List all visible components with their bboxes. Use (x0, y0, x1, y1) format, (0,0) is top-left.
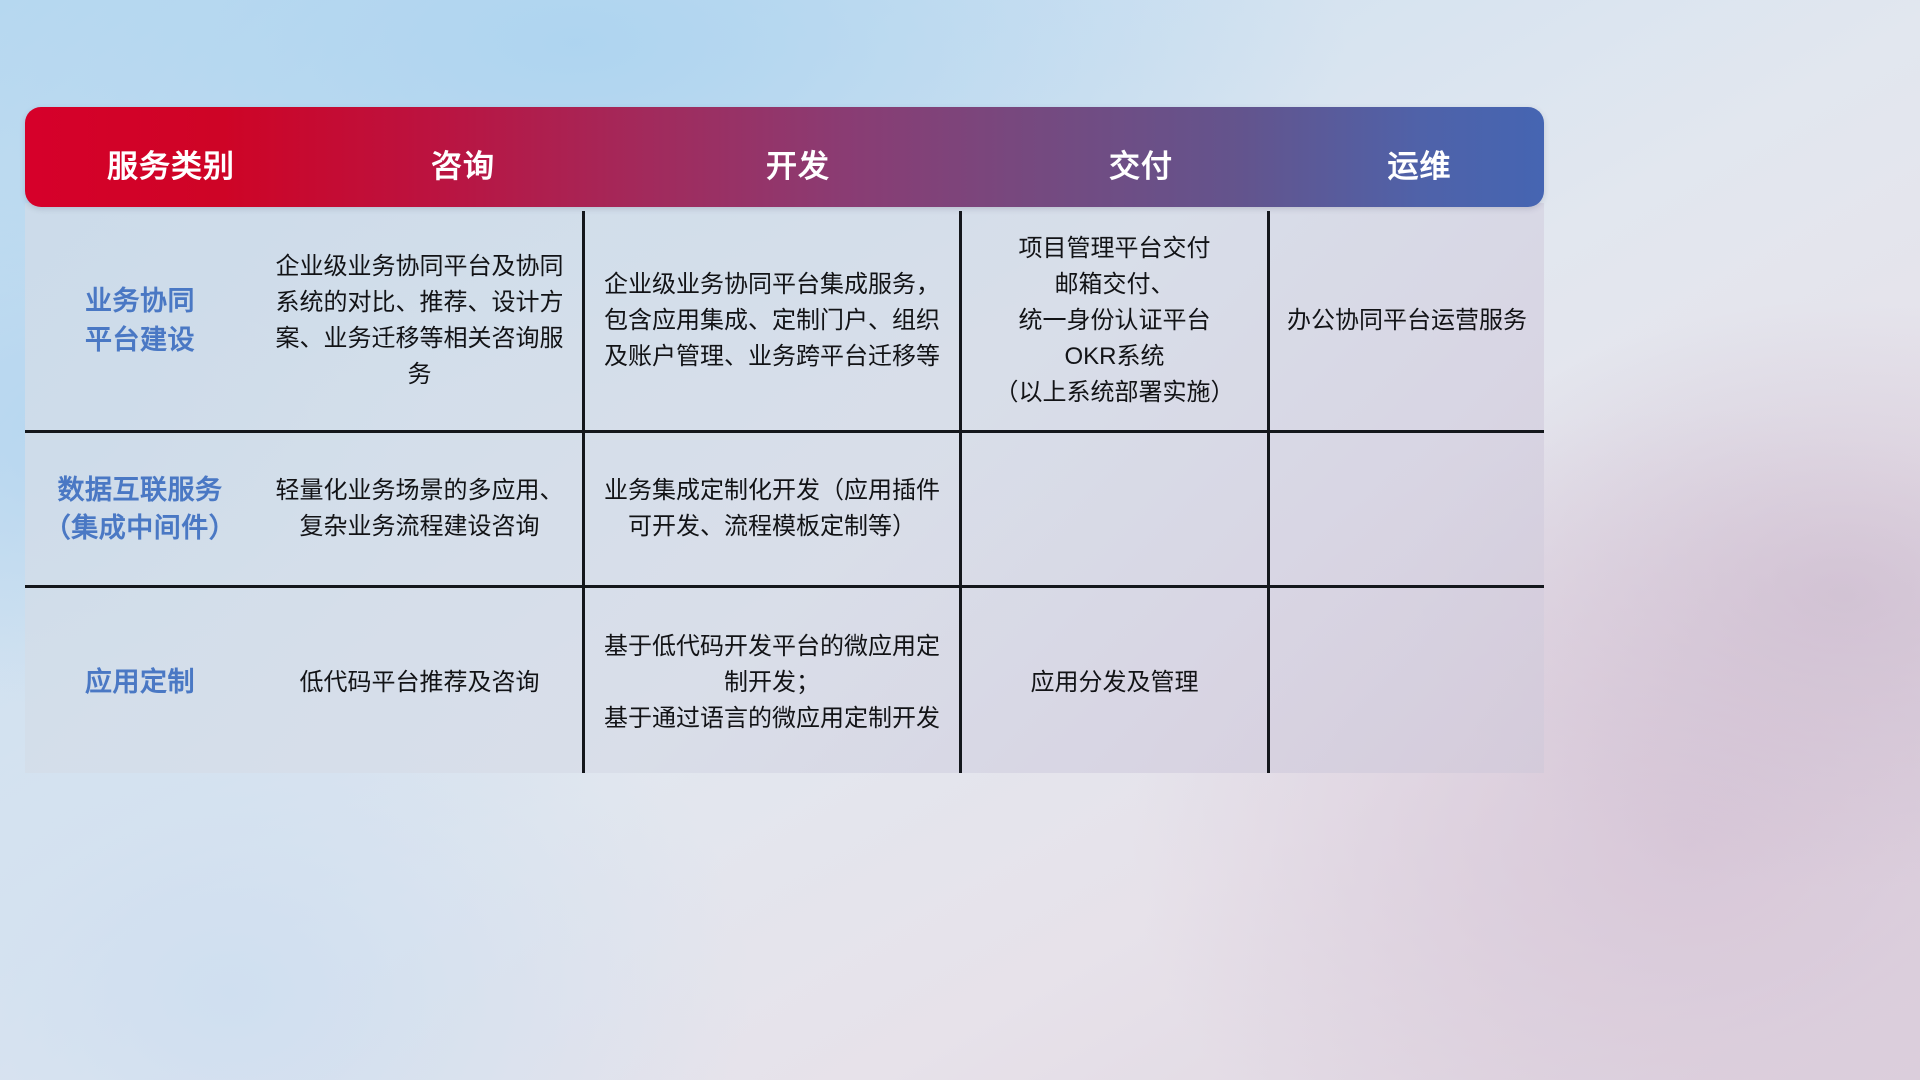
column-header-consulting: 咨询 (317, 141, 609, 186)
service-matrix-table: 服务类别 咨询 开发 交付 运维 业务协同 平台建设 企业级业务协同平台及协同系… (25, 107, 1544, 773)
row-2-category: 数据互联服务 （集成中间件） (25, 433, 255, 585)
row-1-development: 企业级业务协同平台集成服务，包含应用集成、定制门户、组织及账户管理、业务跨平台迁… (585, 211, 959, 430)
row-3-operations (1270, 588, 1544, 777)
row-1-consulting: 企业级业务协同平台及协同系统的对比、推荐、设计方案、业务迁移等相关咨询服务 (257, 211, 582, 430)
row-1-delivery: 项目管理平台交付 邮箱交付、 统一身份认证平台 OKR系统 （以上系统部署实施） (962, 211, 1267, 430)
row-3-delivery: 应用分发及管理 (962, 588, 1267, 777)
row-3-category: 应用定制 (25, 588, 255, 777)
column-header-delivery: 交付 (987, 141, 1295, 186)
row-2-consulting: 轻量化业务场景的多应用、复杂业务流程建设咨询 (257, 433, 582, 585)
row-2-development: 业务集成定制化开发（应用插件可开发、流程模板定制等） (585, 433, 959, 585)
column-header-category: 服务类别 (25, 141, 317, 186)
row-1-category: 业务协同 平台建设 (25, 211, 255, 430)
row-1-operations: 办公协同平台运营服务 (1270, 211, 1544, 430)
row-2-operations (1270, 433, 1544, 585)
column-header-development: 开发 (609, 141, 987, 186)
row-3-consulting: 低代码平台推荐及咨询 (257, 588, 582, 777)
column-header-operations: 运维 (1295, 141, 1544, 186)
row-2-delivery (962, 433, 1267, 585)
table-header-row: 服务类别 咨询 开发 交付 运维 (25, 107, 1544, 207)
row-3-development: 基于低代码开发平台的微应用定制开发； 基于通过语言的微应用定制开发 (585, 588, 959, 777)
